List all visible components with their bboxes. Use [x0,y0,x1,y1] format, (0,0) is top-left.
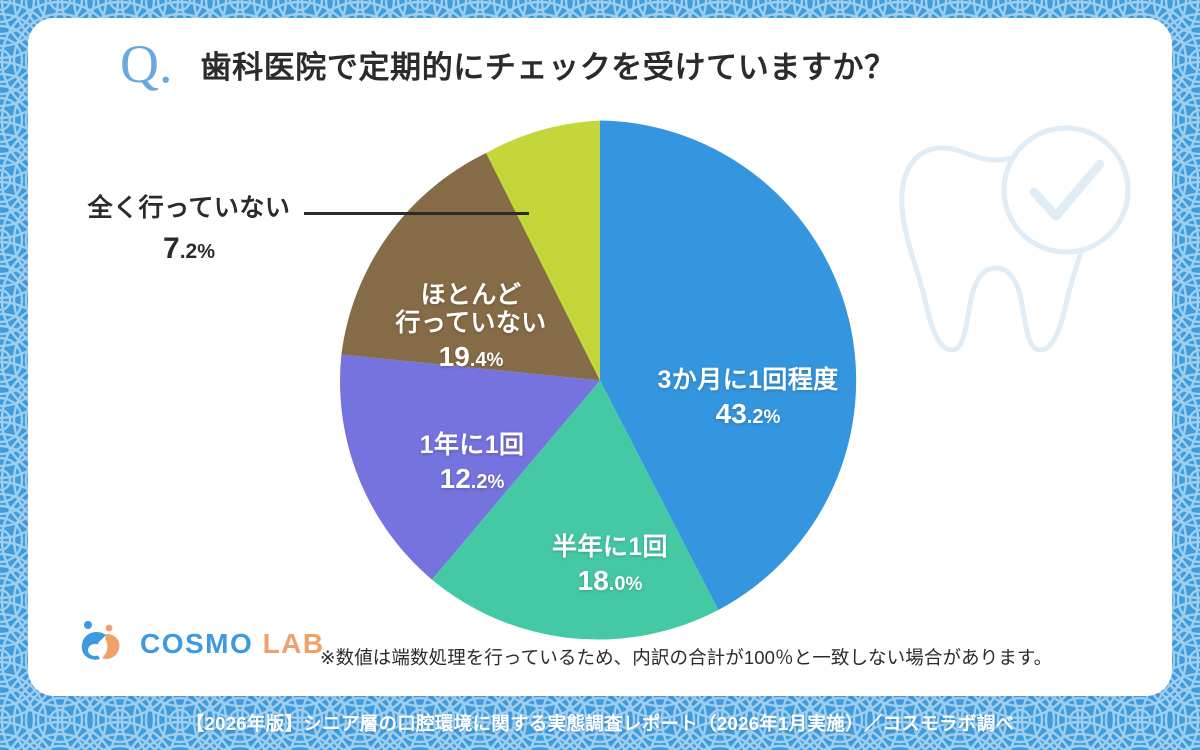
header: Q. 歯科医院で定期的にチェックを受けていますか？ [28,18,1172,110]
logo-text-lab: LAB [263,628,325,659]
pie-label-mattaku: 全く行っていない 7.2% [64,188,314,266]
report-banner-text: 【2026年版】シニア層の口腔環境に関する実態調査レポート（2026年1月実施）… [186,710,1015,736]
pie-label-mattaku-text: 全く行っていない [64,188,314,224]
callout-leader-line [304,212,529,215]
tooth-with-check-icon [884,118,1144,368]
content-card: Q. 歯科医院で定期的にチェックを受けていますか？ [28,18,1172,696]
footnote: ※数値は端数処理を行っているため、内訳の合計が100％と一致しない場合があります… [320,644,1052,670]
question-mark-icon: Q. [120,37,173,91]
pie-value-mattaku: 7.2% [64,232,314,266]
cosmo-lab-logo[interactable]: COSMO LAB [76,619,325,668]
infographic-slide: Q. 歯科医院で定期的にチェックを受けていますか？ [0,0,1200,750]
pie-chart: 3か月に1回程度 43.2% 半年に1回 18.0% 1年に1回 12.2% ほ… [300,113,900,648]
cosmo-lab-mark-icon [76,619,128,668]
logo-text-cosmo: COSMO [140,628,253,659]
report-banner: 【2026年版】シニア層の口腔環境に関する実態調査レポート（2026年1月実施）… [0,696,1200,750]
logo-wordmark: COSMO LAB [140,628,325,660]
page-title: 歯科医院で定期的にチェックを受けていますか？ [201,42,896,87]
